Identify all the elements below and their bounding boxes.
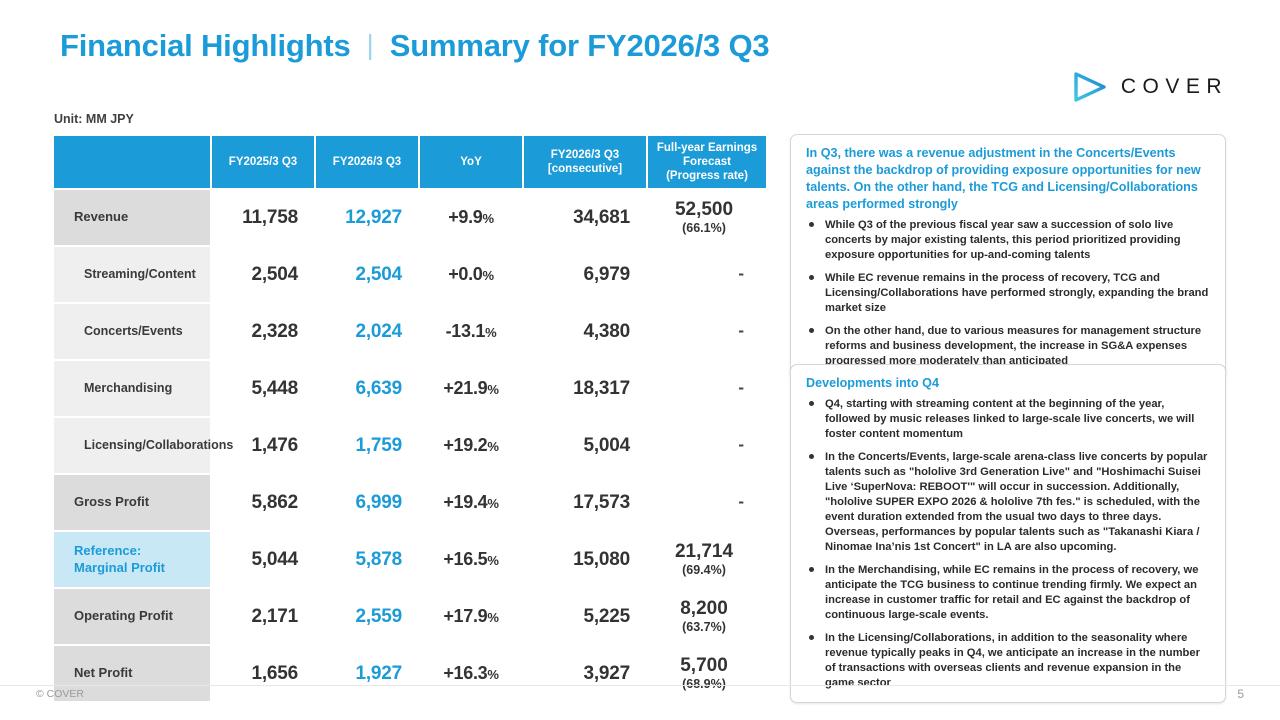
table-row: Streaming/Content 2,504 2,504 +0.0% 6,97… <box>54 247 766 302</box>
cell-yoy: +19.2% <box>420 418 522 473</box>
yoy-value: +17.9 <box>443 606 487 626</box>
consecutive-line2: [consecutive] <box>548 163 622 175</box>
yoy-percent-sign: % <box>485 325 496 340</box>
yoy-percent-sign: % <box>487 382 498 397</box>
table-col-header-yoy: YoY <box>420 136 522 188</box>
yoy-value: +16.3 <box>443 663 487 683</box>
table-row: Reference:Marginal Profit 5,044 5,878 +1… <box>54 532 766 587</box>
list-item: On the other hand, due to various measur… <box>806 324 1212 369</box>
list-item: While Q3 of the previous fiscal year saw… <box>806 218 1212 263</box>
cell-yoy: +21.9% <box>420 361 522 416</box>
yoy-percent-sign: % <box>487 667 498 682</box>
bullet-dot-icon <box>809 222 814 227</box>
table-row: Gross Profit 5,862 6,999 +19.4% 17,573 - <box>54 475 766 530</box>
bullet-text: While EC revenue remains in the process … <box>825 272 1208 314</box>
cell-prev: 2,171 <box>212 589 314 644</box>
cell-consecutive: 34,681 <box>524 190 646 245</box>
cell-prev: 11,758 <box>212 190 314 245</box>
forecast-value: 8,200 <box>680 598 728 619</box>
yoy-percent-sign: % <box>483 268 494 283</box>
yoy-percent-sign: % <box>487 496 498 511</box>
cell-forecast: - <box>648 361 766 416</box>
unit-label: Unit: MM JPY <box>54 112 134 126</box>
yoy-value: +19.4 <box>443 492 487 512</box>
cell-current: 5,878 <box>316 532 418 587</box>
table-row: Licensing/Collaborations 1,476 1,759 +19… <box>54 418 766 473</box>
table-row: Revenue 11,758 12,927 +9.9% 34,681 52,50… <box>54 190 766 245</box>
forecast-line2: Forecast <box>683 156 731 168</box>
yoy-percent-sign: % <box>487 439 498 454</box>
title-separator: | <box>367 29 374 61</box>
table-col-header-fy2026q3: FY2026/3 Q3 <box>316 136 418 188</box>
bullet-dot-icon <box>809 328 814 333</box>
cell-prev: 1,656 <box>212 646 314 701</box>
cell-yoy: -13.1% <box>420 304 522 359</box>
bullet-dot-icon <box>809 275 814 280</box>
cell-current: 6,639 <box>316 361 418 416</box>
forecast-line3: (Progress rate) <box>666 170 748 182</box>
cell-yoy: +16.5% <box>420 532 522 587</box>
table-body: Revenue 11,758 12,927 +9.9% 34,681 52,50… <box>54 190 766 701</box>
cell-forecast: - <box>648 304 766 359</box>
list-item: Q4, starting with streaming content at t… <box>806 397 1212 442</box>
yoy-percent-sign: % <box>487 553 498 568</box>
row-label-concerts-events: Concerts/Events <box>54 304 210 359</box>
bullet-text: In the Licensing/Collaborations, in addi… <box>825 632 1200 689</box>
yoy-value: +16.5 <box>443 549 487 569</box>
cell-forecast: 8,200(63.7%) <box>648 589 766 644</box>
yoy-value: +21.9 <box>443 378 487 398</box>
consecutive-line1: FY2026/3 Q3 <box>551 149 619 161</box>
bullet-dot-icon <box>809 567 814 572</box>
table-row: Operating Profit 2,171 2,559 +17.9% 5,22… <box>54 589 766 644</box>
panel-heading-q4: Developments into Q4 <box>806 375 1212 392</box>
cell-forecast: - <box>648 418 766 473</box>
cell-consecutive: 15,080 <box>524 532 646 587</box>
cell-forecast: - <box>648 475 766 530</box>
table-row: Concerts/Events 2,328 2,024 -13.1% 4,380… <box>54 304 766 359</box>
bullet-text: On the other hand, due to various measur… <box>825 325 1201 367</box>
cover-logo: COVER <box>1073 72 1228 102</box>
cell-prev: 5,862 <box>212 475 314 530</box>
panel-heading-q3: In Q3, there was a revenue adjustment in… <box>806 145 1212 213</box>
table-col-header-consecutive: FY2026/3 Q3 [consecutive] <box>524 136 646 188</box>
title-subtitle: Summary for FY2026/3 Q3 <box>390 28 770 64</box>
list-item: In the Concerts/Events, large-scale aren… <box>806 450 1212 555</box>
bullet-dot-icon <box>809 454 814 459</box>
cell-consecutive: 17,573 <box>524 475 646 530</box>
cell-prev: 5,044 <box>212 532 314 587</box>
cell-consecutive: 5,225 <box>524 589 646 644</box>
row-label-reference-marginal-profit: Reference:Marginal Profit <box>54 532 210 587</box>
panel-bullets-q4: Q4, starting with streaming content at t… <box>806 397 1212 691</box>
row-label-revenue: Revenue <box>54 190 210 245</box>
bullet-dot-icon <box>809 401 814 406</box>
page-number: 5 <box>1237 687 1244 701</box>
yoy-value: +9.9 <box>448 207 482 227</box>
forecast-value: 5,700 <box>680 655 728 676</box>
cell-yoy: +19.4% <box>420 475 522 530</box>
commentary-panel-q4: Developments into Q4 Q4, starting with s… <box>790 364 1226 703</box>
logo-wordmark: COVER <box>1121 75 1228 99</box>
cell-current: 2,504 <box>316 247 418 302</box>
financial-table: FY2025/3 Q3 FY2026/3 Q3 YoY FY2026/3 Q3 … <box>52 134 768 703</box>
cell-yoy: +0.0% <box>420 247 522 302</box>
cell-consecutive: 3,927 <box>524 646 646 701</box>
slide-header: Financial Highlights | Summary for FY202… <box>0 28 1280 88</box>
footer-divider <box>0 685 1280 686</box>
row-label-merchandising: Merchandising <box>54 361 210 416</box>
cell-prev: 2,504 <box>212 247 314 302</box>
list-item: While EC revenue remains in the process … <box>806 271 1212 316</box>
yoy-percent-sign: % <box>483 211 494 226</box>
progress-rate: (63.7%) <box>648 621 760 635</box>
cell-yoy: +17.9% <box>420 589 522 644</box>
forecast-value: 52,500 <box>675 199 733 220</box>
cell-current: 1,759 <box>316 418 418 473</box>
table-col-header-forecast: Full-year Earnings Forecast (Progress ra… <box>648 136 766 188</box>
table-row: Merchandising 5,448 6,639 +21.9% 18,317 … <box>54 361 766 416</box>
bullet-text: In the Merchandising, while EC remains i… <box>825 564 1198 621</box>
row-label-operating-profit: Operating Profit <box>54 589 210 644</box>
cell-yoy: +9.9% <box>420 190 522 245</box>
cell-forecast: - <box>648 247 766 302</box>
cell-current: 12,927 <box>316 190 418 245</box>
row-label-streaming-content: Streaming/Content <box>54 247 210 302</box>
cell-consecutive: 4,380 <box>524 304 646 359</box>
list-item: In the Licensing/Collaborations, in addi… <box>806 631 1212 691</box>
bullet-dot-icon <box>809 635 814 640</box>
cell-yoy: +16.3% <box>420 646 522 701</box>
bullet-text: In the Concerts/Events, large-scale aren… <box>825 451 1207 553</box>
panel-bullets-q3: While Q3 of the previous fiscal year saw… <box>806 218 1212 369</box>
table-header-row: FY2025/3 Q3 FY2026/3 Q3 YoY FY2026/3 Q3 … <box>54 136 766 188</box>
table-col-header-blank <box>54 136 210 188</box>
row-label-licensing-collaborations: Licensing/Collaborations <box>54 418 210 473</box>
yoy-value: -13.1 <box>446 321 486 341</box>
table-col-header-fy2025q3: FY2025/3 Q3 <box>212 136 314 188</box>
cell-current: 2,024 <box>316 304 418 359</box>
cell-current: 6,999 <box>316 475 418 530</box>
progress-rate: (69.4%) <box>648 564 760 578</box>
cell-consecutive: 5,004 <box>524 418 646 473</box>
cell-forecast: 5,700(68.9%) <box>648 646 766 701</box>
yoy-percent-sign: % <box>487 610 498 625</box>
cell-current: 1,927 <box>316 646 418 701</box>
play-triangle-icon <box>1073 72 1107 102</box>
cell-consecutive: 18,317 <box>524 361 646 416</box>
progress-rate: (66.1%) <box>648 222 760 236</box>
slide: Financial Highlights | Summary for FY202… <box>0 0 1280 720</box>
forecast-value: 21,714 <box>675 541 733 562</box>
financial-table-container: FY2025/3 Q3 FY2026/3 Q3 YoY FY2026/3 Q3 … <box>52 134 760 703</box>
title-main: Financial Highlights <box>60 28 351 64</box>
cell-prev: 5,448 <box>212 361 314 416</box>
cell-forecast: 21,714(69.4%) <box>648 532 766 587</box>
cell-forecast: 52,500(66.1%) <box>648 190 766 245</box>
page-title: Financial Highlights | Summary for FY202… <box>60 28 769 64</box>
cell-consecutive: 6,979 <box>524 247 646 302</box>
row-label-gross-profit: Gross Profit <box>54 475 210 530</box>
list-item: In the Merchandising, while EC remains i… <box>806 563 1212 623</box>
table-row: Net Profit 1,656 1,927 +16.3% 3,927 5,70… <box>54 646 766 701</box>
bullet-text: While Q3 of the previous fiscal year saw… <box>825 219 1181 261</box>
forecast-line1: Full-year Earnings <box>657 142 757 154</box>
cell-current: 2,559 <box>316 589 418 644</box>
yoy-value: +0.0 <box>448 264 482 284</box>
cell-prev: 2,328 <box>212 304 314 359</box>
yoy-value: +19.2 <box>443 435 487 455</box>
commentary-panel-q3: In Q3, there was a revenue adjustment in… <box>790 134 1226 381</box>
bullet-text: Q4, starting with streaming content at t… <box>825 398 1194 440</box>
footer-copyright: © COVER <box>36 688 84 700</box>
